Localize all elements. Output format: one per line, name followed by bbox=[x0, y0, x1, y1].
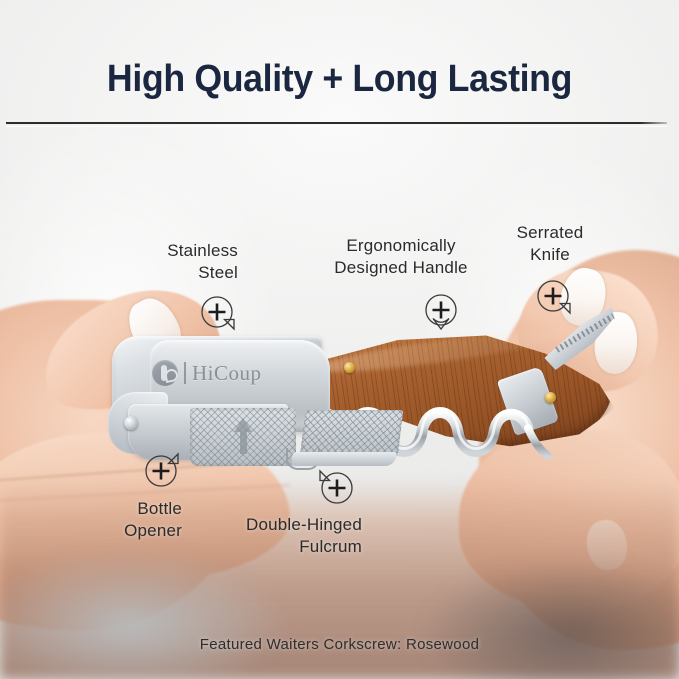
callout-marker-stainless-steel[interactable] bbox=[197, 292, 237, 332]
hicoup-logo-icon bbox=[152, 360, 178, 386]
callout-label-ergonomically-designed-handle: Ergonomically Designed Handle bbox=[306, 235, 496, 279]
fulcrum-lip bbox=[291, 452, 397, 466]
foreground-blur-right bbox=[419, 559, 679, 679]
infographic-canvas: High Quality + Long Lasting bbox=[0, 0, 679, 679]
pivot-rivet bbox=[124, 416, 138, 430]
plus-marker-icon bbox=[421, 290, 461, 330]
callout-label-serrated-knife: Serrated Knife bbox=[480, 222, 620, 266]
lever-arrow-icon bbox=[234, 418, 252, 432]
plus-marker-icon bbox=[197, 292, 237, 332]
callout-marker-ergonomically-designed-handle[interactable] bbox=[421, 290, 461, 330]
callout-marker-bottle-opener[interactable] bbox=[141, 451, 181, 491]
callout-label-double-hinged-fulcrum: Double-Hinged Fulcrum bbox=[196, 514, 362, 558]
plus-marker-icon bbox=[141, 451, 181, 491]
plus-marker-icon bbox=[317, 468, 357, 508]
logo-divider bbox=[184, 362, 186, 384]
brand-name: HiCoup bbox=[192, 361, 262, 386]
lever-arrow-stem-icon bbox=[240, 432, 247, 454]
foreground-blur-left bbox=[0, 549, 290, 679]
hicoup-brand-engraving: HiCoup bbox=[152, 360, 262, 386]
callout-marker-serrated-knife[interactable] bbox=[533, 276, 573, 316]
callout-label-stainless-steel: Stainless Steel bbox=[104, 240, 238, 284]
brass-handle-pin bbox=[545, 392, 556, 403]
featured-product-caption: Featured Waiters Corkscrew: Rosewood bbox=[0, 636, 679, 653]
callout-marker-double-hinged-fulcrum[interactable] bbox=[317, 468, 357, 508]
callout-label-bottle-opener: Bottle Opener bbox=[48, 498, 182, 542]
plus-marker-icon bbox=[533, 276, 573, 316]
brass-handle-pin bbox=[344, 362, 355, 373]
